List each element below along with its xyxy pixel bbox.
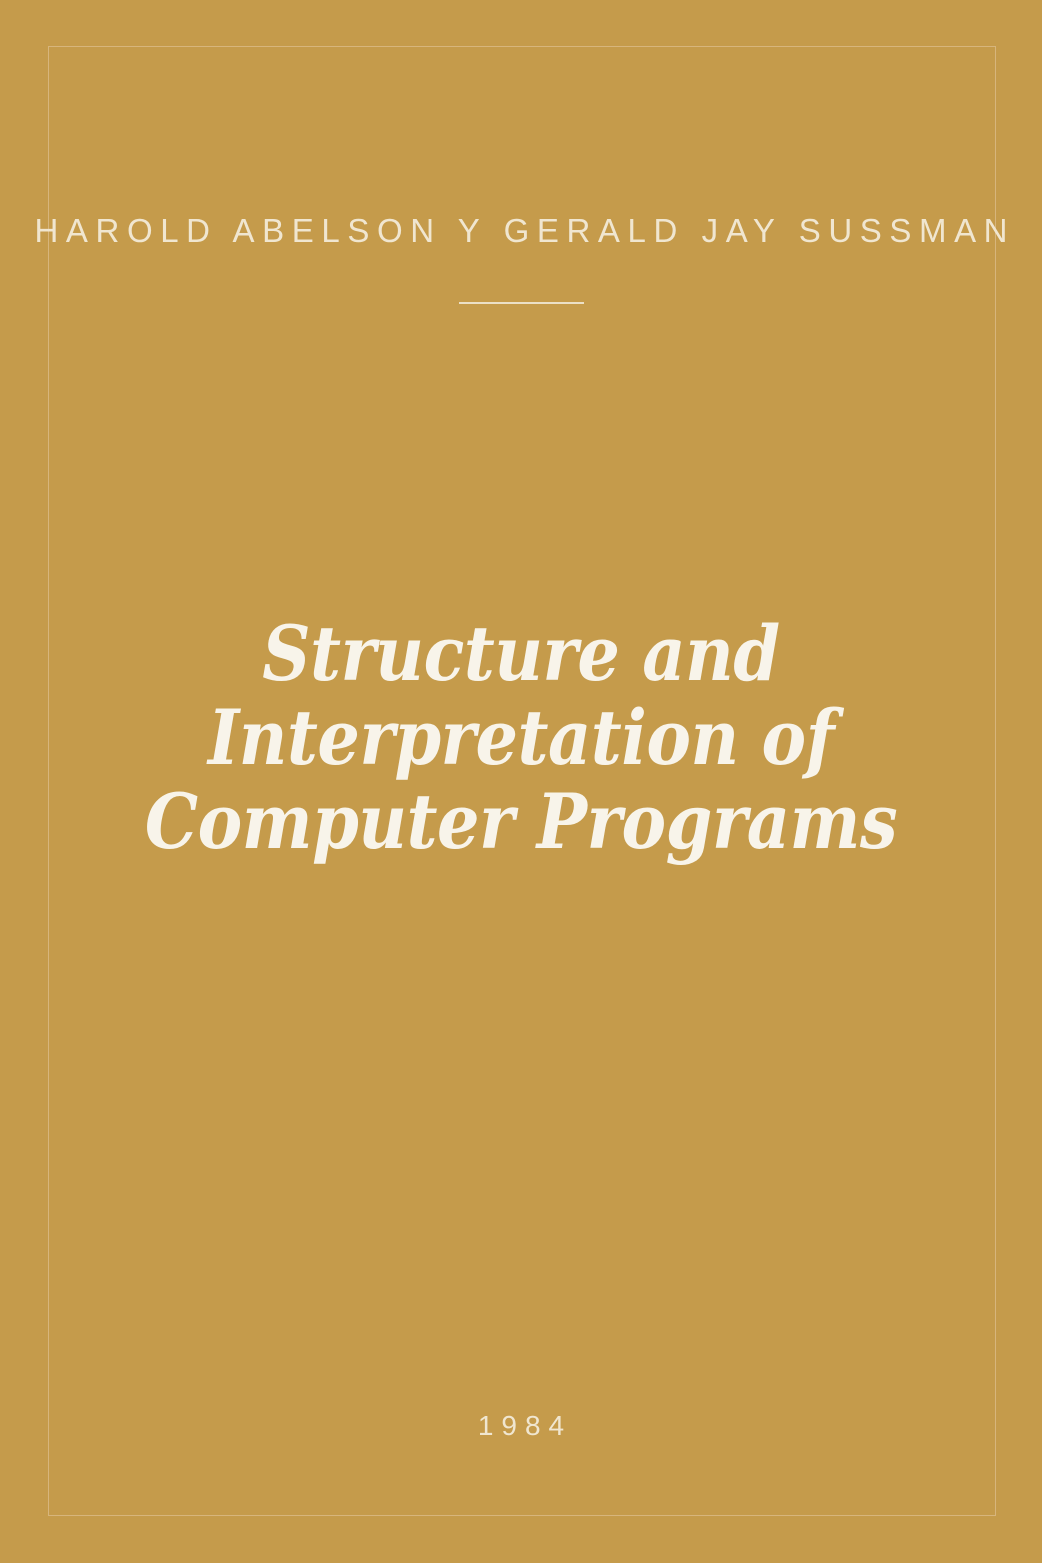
title-line-1: Structure and — [63, 612, 980, 696]
publication-year-block: 1984 — [0, 1410, 1042, 1442]
title-text: Structure and Interpretation of Computer… — [63, 612, 980, 864]
book-cover: HAROLD ABELSON Y GERALD JAY SUSSMAN Stru… — [0, 0, 1042, 1563]
publication-year: 1984 — [470, 1410, 572, 1442]
book-title: Structure and Interpretation of Computer… — [0, 612, 1042, 864]
authors-block: HAROLD ABELSON Y GERALD JAY SUSSMAN — [0, 206, 1042, 304]
title-line-2: Interpretation of — [63, 696, 980, 780]
author-names: HAROLD ABELSON Y GERALD JAY SUSSMAN — [0, 206, 1042, 256]
title-line-3: Computer Programs — [63, 780, 980, 864]
author-divider-rule — [459, 302, 584, 304]
